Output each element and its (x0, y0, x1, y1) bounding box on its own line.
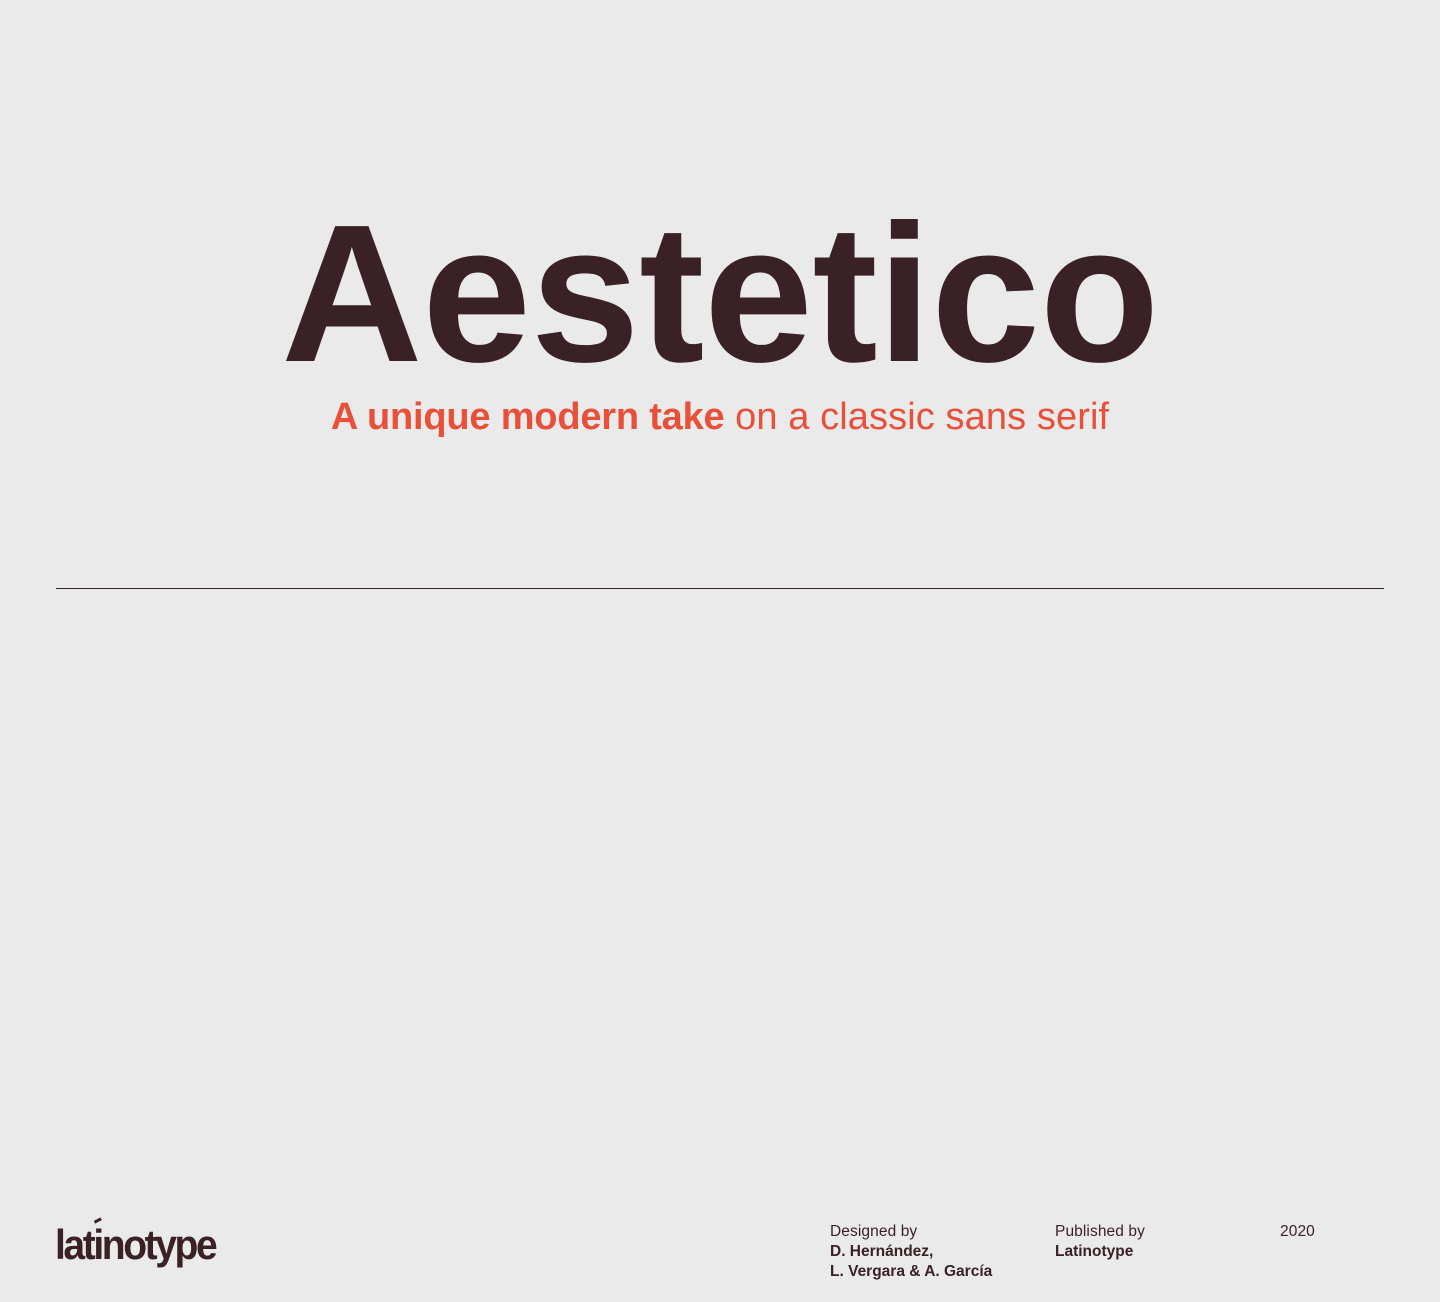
footer-section: latinotype Designed by D. Hernández, L. … (0, 600, 1440, 720)
credit-label-designed-by: Designed by (830, 1222, 992, 1242)
page-title: Aestetico (0, 196, 1440, 392)
tagline-bold-part: A unique modern take (331, 396, 725, 438)
footer-divider (56, 588, 1384, 589)
type-specimen-poster: Aestetico A unique modern take on a clas… (0, 0, 1440, 720)
credit-column-designer: Designed by D. Hernández, L. Vergara & A… (830, 1222, 992, 1282)
credit-value-publisher: Latinotype (1055, 1242, 1145, 1262)
credit-value-designer-line-1: D. Hernández, (830, 1242, 992, 1262)
credits-block: Designed by D. Hernández, L. Vergara & A… (830, 1222, 1390, 1302)
hero-section: Aestetico A unique modern take on a clas… (0, 0, 1440, 575)
tagline: A unique modern take on a classic sans s… (0, 396, 1440, 438)
credit-value-designer-line-2: L. Vergara & A. García (830, 1262, 992, 1282)
logo-text-part-2: notype (102, 1221, 216, 1268)
credit-column-year: 2020 (1280, 1222, 1315, 1242)
credit-column-publisher: Published by Latinotype (1055, 1222, 1145, 1262)
tagline-light-part: on a classic sans serif (724, 396, 1109, 438)
logo-text-part-1: lat (55, 1221, 93, 1268)
credit-label-published-by: Published by (1055, 1222, 1145, 1242)
logo-accented-i: i (93, 1221, 101, 1268)
credit-value-year: 2020 (1280, 1222, 1315, 1242)
latinotype-logo: latinotype (55, 1224, 215, 1266)
